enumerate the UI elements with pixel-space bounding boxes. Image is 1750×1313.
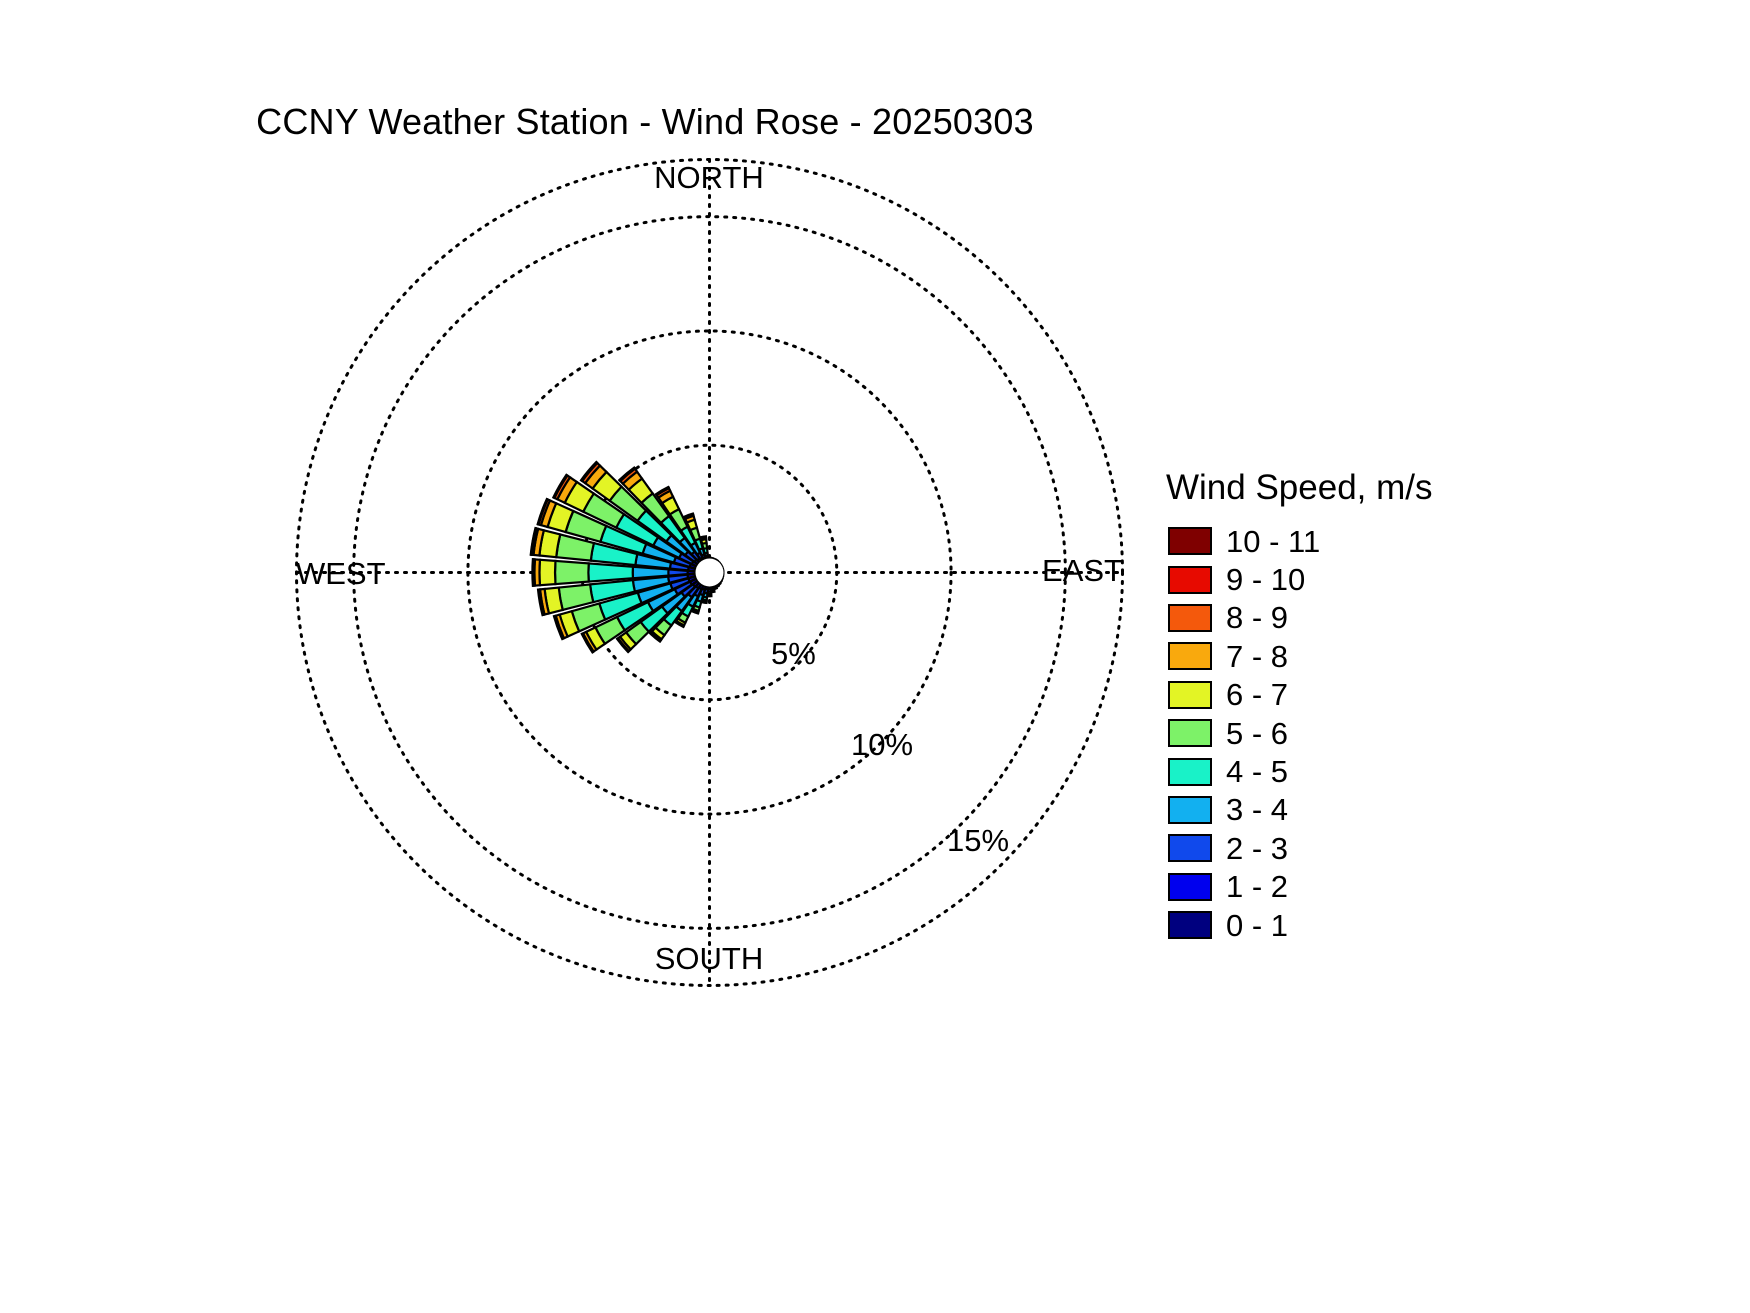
legend-title: Wind Speed, m/s (1166, 468, 1580, 508)
legend-label: 4 - 5 (1226, 756, 1288, 787)
legend-color-swatch (1168, 834, 1212, 862)
legend-item[interactable]: 5 - 6 (1160, 714, 1580, 752)
legend-item[interactable]: 3 - 4 (1160, 791, 1580, 829)
legend-item[interactable]: 9 - 10 (1160, 560, 1580, 598)
legend-color-swatch (1168, 911, 1212, 939)
legend-color-swatch (1168, 873, 1212, 901)
wind-rose-plot: CCNY Weather Station - Wind Rose - 20250… (0, 0, 1290, 1313)
legend-rows: 10 - 119 - 108 - 97 - 86 - 75 - 64 - 53 … (1160, 522, 1580, 944)
legend-color-swatch (1168, 527, 1212, 555)
legend-item[interactable]: 10 - 11 (1160, 522, 1580, 560)
legend-color-swatch (1168, 719, 1212, 747)
legend-label: 10 - 11 (1226, 526, 1320, 557)
legend-color-swatch (1168, 642, 1212, 670)
legend-item[interactable]: 2 - 3 (1160, 829, 1580, 867)
petal-layer (531, 462, 724, 652)
legend-item[interactable]: 7 - 8 (1160, 637, 1580, 675)
legend: Wind Speed, m/s 10 - 119 - 108 - 97 - 86… (1160, 468, 1580, 944)
legend-label: 1 - 2 (1226, 871, 1288, 902)
radial-tick-label-10: 10% (851, 727, 913, 763)
axis-label-south: SOUTH (655, 941, 764, 977)
legend-color-swatch (1168, 796, 1212, 824)
radial-tick-label-15: 15% (947, 823, 1009, 859)
legend-label: 7 - 8 (1226, 641, 1288, 672)
axis-label-north: NORTH (654, 160, 764, 196)
legend-label: 9 - 10 (1226, 564, 1305, 595)
legend-label: 8 - 9 (1226, 602, 1288, 633)
legend-color-swatch (1168, 566, 1212, 594)
legend-item[interactable]: 0 - 1 (1160, 906, 1580, 944)
legend-color-swatch (1168, 758, 1212, 786)
axis-label-west: WEST (296, 556, 386, 592)
legend-label: 0 - 1 (1226, 910, 1288, 941)
radial-tick-label-5: 5% (771, 636, 816, 672)
legend-label: 5 - 6 (1226, 718, 1288, 749)
legend-item[interactable]: 4 - 5 (1160, 752, 1580, 790)
wind-rose-svg (0, 0, 1290, 1313)
legend-label: 3 - 4 (1226, 794, 1288, 825)
legend-color-swatch (1168, 681, 1212, 709)
legend-color-swatch (1168, 604, 1212, 632)
legend-item[interactable]: 8 - 9 (1160, 599, 1580, 637)
legend-item[interactable]: 6 - 7 (1160, 676, 1580, 714)
legend-item[interactable]: 1 - 2 (1160, 868, 1580, 906)
legend-label: 6 - 7 (1226, 679, 1288, 710)
legend-label: 2 - 3 (1226, 833, 1288, 864)
axis-label-east: EAST (1042, 553, 1123, 589)
